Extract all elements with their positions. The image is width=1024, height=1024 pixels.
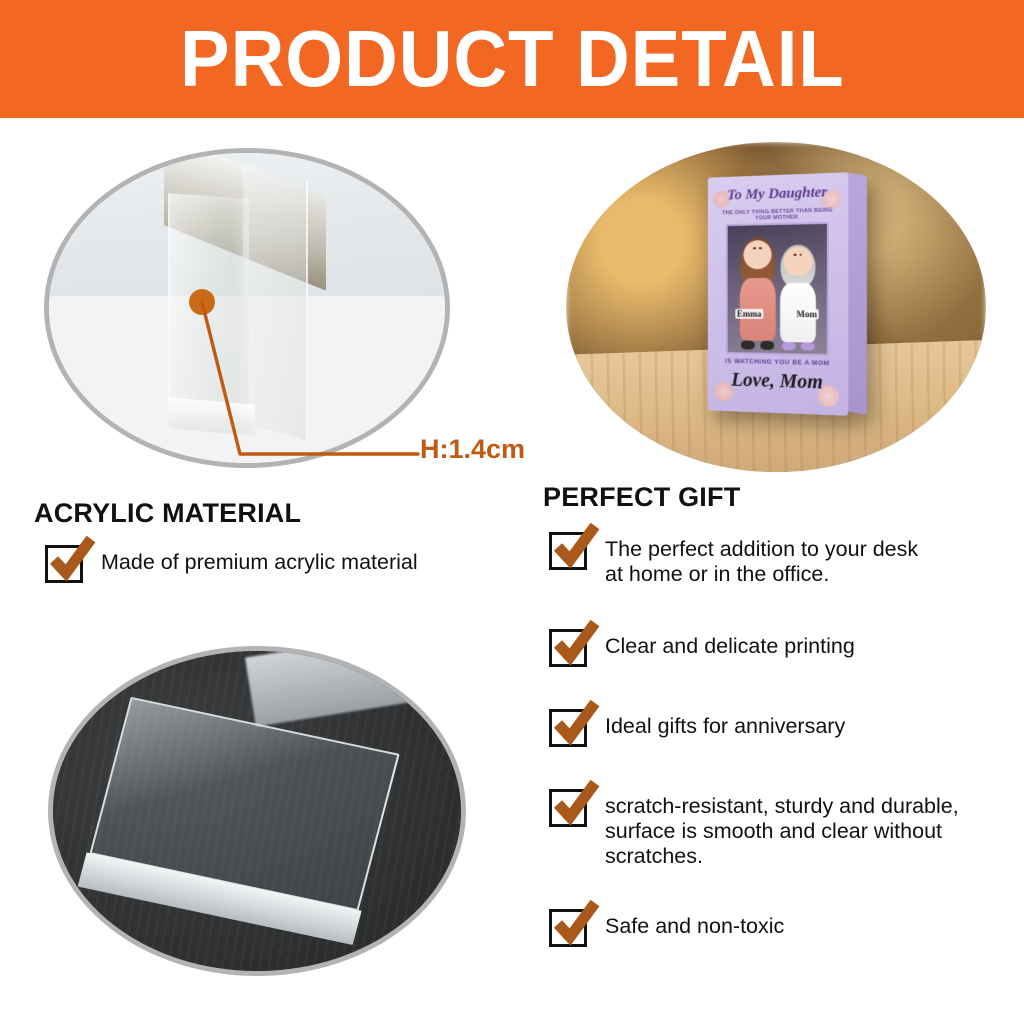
acrylic-edge-photo-oval <box>44 148 450 468</box>
feature-bullet-text: The perfect addition to your desk at hom… <box>605 537 918 587</box>
gift-box-side-panel <box>846 173 867 415</box>
feature-bullet-gift-4: Safe and non-toxic <box>549 909 784 947</box>
eye-icon <box>794 254 797 257</box>
checkmark-icon <box>549 698 601 750</box>
gift-box: To My Daughter THE ONLY THING BETTER THA… <box>707 172 847 415</box>
checkbox-checked-icon <box>549 909 587 947</box>
feature-bullet-acrylic-0: Made of premium acrylic material <box>45 545 418 583</box>
checkmark-icon <box>549 618 601 670</box>
feature-bullet-text: scratch-resistant, sturdy and durable, s… <box>605 794 959 869</box>
checkmark-icon <box>549 778 601 830</box>
checkbox-checked-icon <box>549 532 587 570</box>
feature-bullet-gift-0: The perfect addition to your desk at hom… <box>549 532 918 587</box>
checkmark-icon <box>549 898 601 950</box>
daughter-shoe <box>760 341 774 350</box>
feature-bullet-text: Made of premium acrylic material <box>101 550 418 575</box>
eye-icon <box>753 247 756 250</box>
height-callout-label: H:1.4cm <box>420 434 525 465</box>
acrylic-slab-on-slate-photo <box>53 651 461 971</box>
gift-box-photo-oval: To My Daughter THE ONLY THING BETTER THA… <box>566 142 986 472</box>
feature-bullet-text: Safe and non-toxic <box>605 914 784 939</box>
acrylic-block-side-face <box>243 162 308 441</box>
product-detail-page: PRODUCT DETAIL H:1.4cm <box>0 0 1024 1024</box>
page-header-banner: PRODUCT DETAIL <box>0 0 1024 118</box>
eye-icon <box>799 254 802 257</box>
acrylic-slab-photo-oval <box>48 646 466 976</box>
mom-shoe <box>800 342 814 351</box>
gift-box-subtitle: THE ONLY THING BETTER THAN BEING YOUR MO… <box>716 208 839 223</box>
checkbox-checked-icon <box>549 629 587 667</box>
feature-bullet-gift-1: Clear and delicate printing <box>549 629 855 667</box>
checkbox-checked-icon <box>549 709 587 747</box>
gift-box-signature: Love, Mom <box>707 368 847 394</box>
daughter-figurine <box>735 237 780 350</box>
feature-bullet-text: Clear and delicate printing <box>605 634 855 659</box>
mom-shoe <box>781 342 795 351</box>
mom-name-tag: Mom <box>794 310 819 320</box>
feature-bullet-gift-2: Ideal gifts for anniversary <box>549 709 845 747</box>
acrylic-block-edge-on-wood-photo <box>49 153 445 463</box>
checkbox-checked-icon <box>45 545 83 583</box>
feature-bullet-text: Ideal gifts for anniversary <box>605 714 845 739</box>
daughter-shoe <box>741 341 755 350</box>
checkbox-checked-icon <box>549 789 587 827</box>
checkmark-icon <box>549 521 601 573</box>
daughter-head <box>743 240 771 269</box>
section-heading-acrylic-material: ACRYLIC MATERIAL <box>34 498 301 529</box>
feature-bullet-gift-3: scratch-resistant, sturdy and durable, s… <box>549 789 959 869</box>
eye-icon <box>759 247 762 250</box>
gift-box-footer-line: IS WATCHING YOU BE A MOM <box>714 358 840 368</box>
section-heading-perfect-gift: PERFECT GIFT <box>543 482 740 513</box>
page-title: PRODUCT DETAIL <box>180 19 845 99</box>
gift-box-display-window: Emma Mom <box>725 221 829 356</box>
gift-box-front-panel: To My Daughter THE ONLY THING BETTER THA… <box>707 172 847 415</box>
gift-box-packaging-photo: To My Daughter THE ONLY THING BETTER THA… <box>566 142 986 472</box>
mom-figurine <box>775 244 821 351</box>
daughter-name-tag: Emma <box>735 309 763 319</box>
checkmark-icon <box>45 534 97 586</box>
